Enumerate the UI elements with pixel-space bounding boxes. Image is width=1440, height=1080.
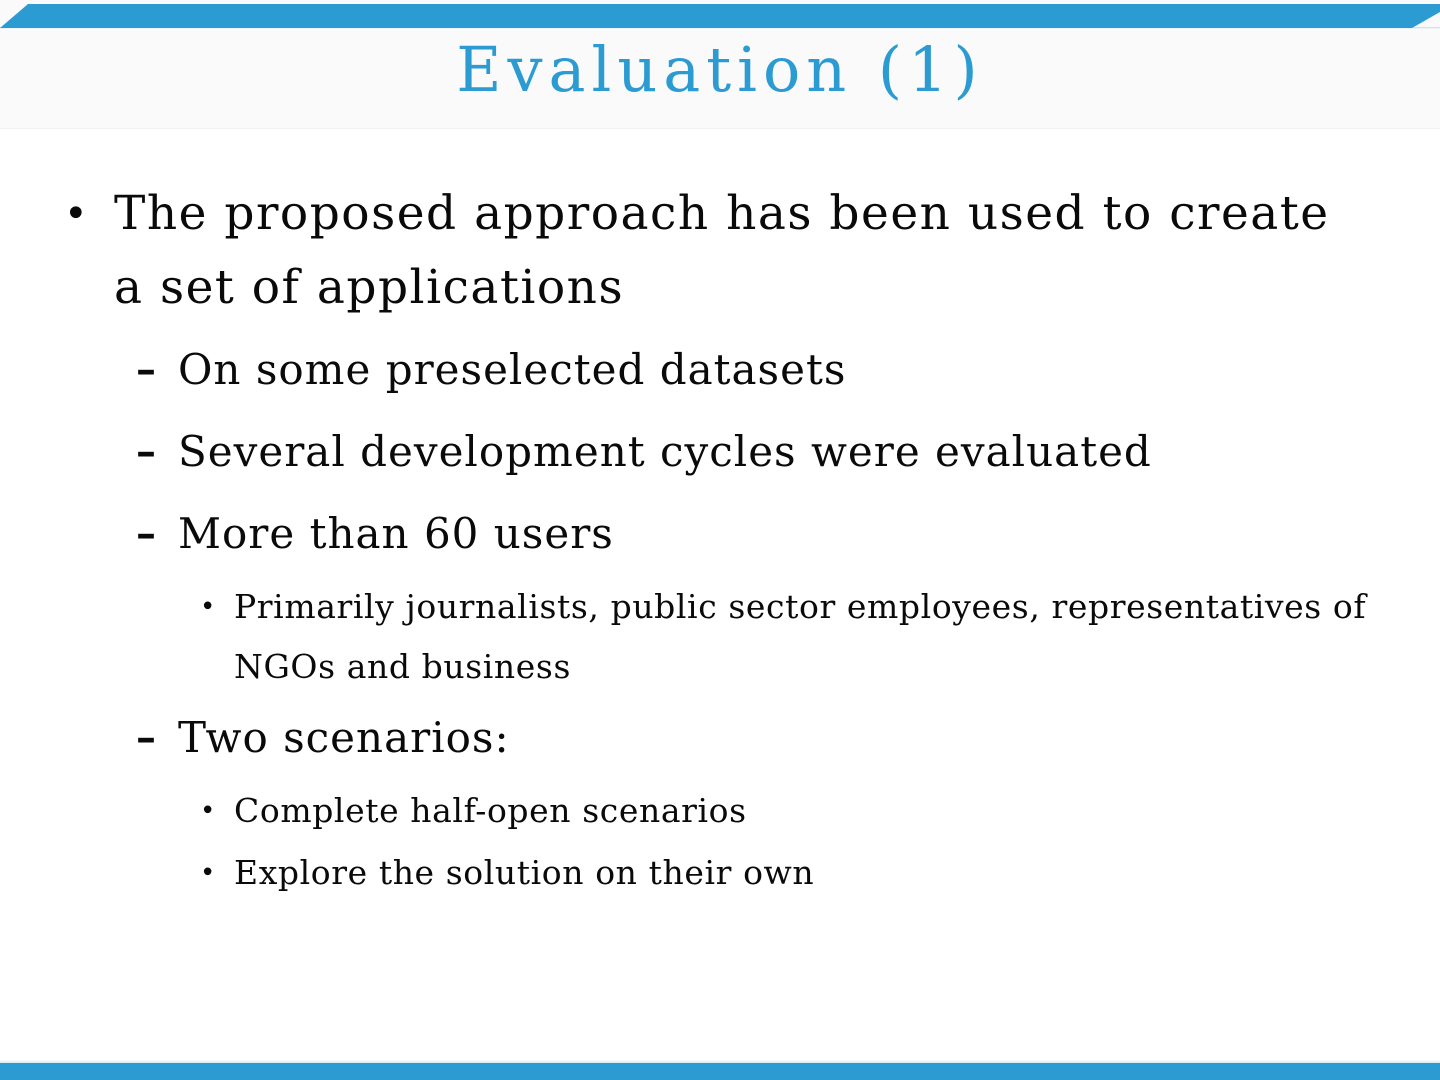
- bullet-marker-dash-icon: –: [136, 495, 178, 573]
- bullet-text: Two scenarios:: [178, 699, 510, 777]
- bullet-marker-dash-icon: –: [136, 413, 178, 491]
- bullet-text: Explore the solution on their own: [234, 843, 814, 903]
- bullet-item: • Primarily journalists, public sector e…: [40, 577, 1400, 697]
- bullet-item: • Explore the solution on their own: [40, 843, 1400, 903]
- slide-body: • The proposed approach has been used to…: [0, 129, 1440, 1063]
- slide-title: Evaluation (1): [0, 28, 1440, 112]
- bullet-marker-dot-icon: •: [200, 843, 234, 903]
- bullet-marker-dash-icon: –: [136, 331, 178, 409]
- bullet-marker-dot-icon: •: [200, 781, 234, 841]
- bullet-marker-dot-icon: •: [200, 577, 234, 637]
- bullet-text: Complete half-open scenarios: [234, 781, 747, 841]
- bullet-item: • The proposed approach has been used to…: [40, 177, 1400, 325]
- top-accent-band: [0, 4, 1440, 28]
- bullet-marker-dot-icon: •: [64, 177, 114, 251]
- bullet-text: Primarily journalists, public sector emp…: [234, 577, 1384, 697]
- footer-accent-band: [0, 1063, 1440, 1080]
- bullet-item: • Complete half-open scenarios: [40, 781, 1400, 841]
- bullet-marker-dash-icon: –: [136, 699, 178, 777]
- bullet-text: On some preselected datasets: [178, 331, 846, 409]
- bullet-item: – On some preselected datasets: [40, 331, 1400, 409]
- bullet-text: Several development cycles were evaluate…: [178, 413, 1152, 491]
- bullet-text: More than 60 users: [178, 495, 614, 573]
- bullet-item: – Several development cycles were evalua…: [40, 413, 1400, 491]
- bullet-item: – More than 60 users: [40, 495, 1400, 573]
- bullet-text: The proposed approach has been used to c…: [114, 177, 1344, 325]
- bullet-item: – Two scenarios:: [40, 699, 1400, 777]
- slide-header: Evaluation (1): [0, 0, 1440, 129]
